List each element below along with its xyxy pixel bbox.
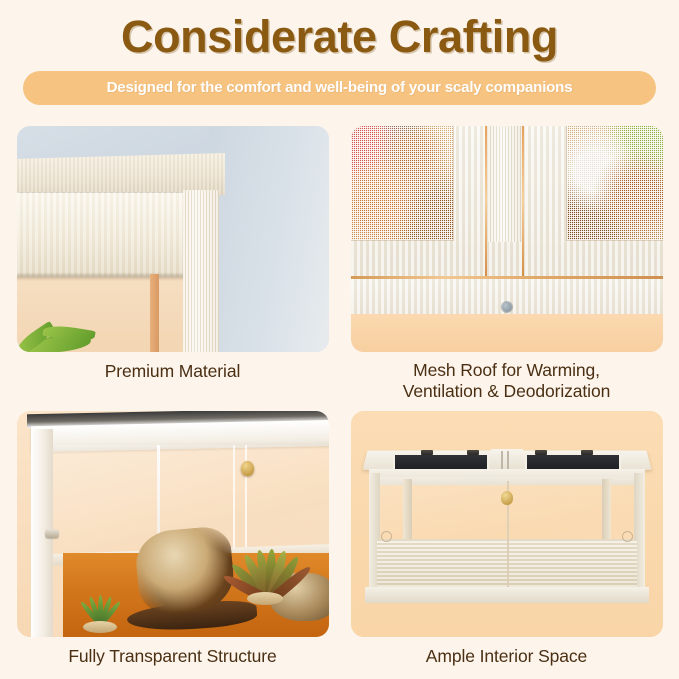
subtitle-text: Designed for the comfort and well-being … [107,79,573,96]
gold-door-knob [501,491,513,505]
feature-grid: Premium Material [0,126,679,667]
vent-hole-left [381,531,392,542]
caption-mesh-roof: Mesh Roof for Warming, Ventilation & Deo… [351,352,663,403]
caption-mesh-roof-line1: Mesh Roof for Warming, [413,360,600,380]
caption-fully-transparent: Fully Transparent Structure [17,637,329,667]
wood-back-leg [150,274,159,352]
mesh-panel-right [567,126,663,240]
gold-trim-vertical-left [485,126,487,276]
feature-card-ample-interior: Ample Interior Space [351,411,663,667]
photo-background-right [209,126,329,352]
feature-card-premium-material: Premium Material [17,126,329,403]
page-title: Considerate Crafting [0,14,679,60]
succulent-plant [79,583,123,631]
photo-fully-transparent [17,411,329,637]
caption-ample-interior: Ample Interior Space [351,637,663,667]
mesh-panel-left [351,126,453,240]
caption-premium-material: Premium Material [17,352,329,382]
base-rail [365,587,649,603]
door-handle-left [45,529,59,538]
roof-hinge-2 [467,450,479,455]
header: Considerate Crafting Designed for the co… [0,0,679,105]
roof-hinge-4 [581,450,593,455]
panel-shadow-line [17,274,191,279]
feature-card-mesh-roof: Mesh Roof for Warming, Ventilation & Deo… [351,126,663,403]
caption-mesh-roof-line2: Ventilation & Deodorization [403,381,610,401]
roof-hinge-3 [535,450,547,455]
wood-corner-post [183,190,219,352]
vent-hole-right [622,531,633,542]
photo-peach-base [351,314,663,352]
feature-card-fully-transparent: Fully Transparent Structure [17,411,329,667]
gold-door-knob [241,461,254,476]
photo-ample-interior [351,411,663,637]
roof-center-strip [491,449,523,471]
photo-mesh-roof [351,126,663,352]
wood-front-panel [17,192,187,277]
subtitle-pill: Designed for the comfort and well-being … [23,71,656,105]
roof-hinge-1 [421,450,433,455]
screw-icon [502,302,512,312]
mesh-weave-overlay-left [351,126,453,240]
gold-trim-vertical-right [522,126,524,276]
green-plant [17,296,123,352]
infographic-page: Considerate Crafting Designed for the co… [0,0,679,679]
leafy-plant [217,503,327,601]
center-wood-post [488,126,522,242]
photo-premium-material [17,126,329,352]
mesh-weave-overlay-right [567,126,663,240]
lower-wood-band [351,279,663,319]
